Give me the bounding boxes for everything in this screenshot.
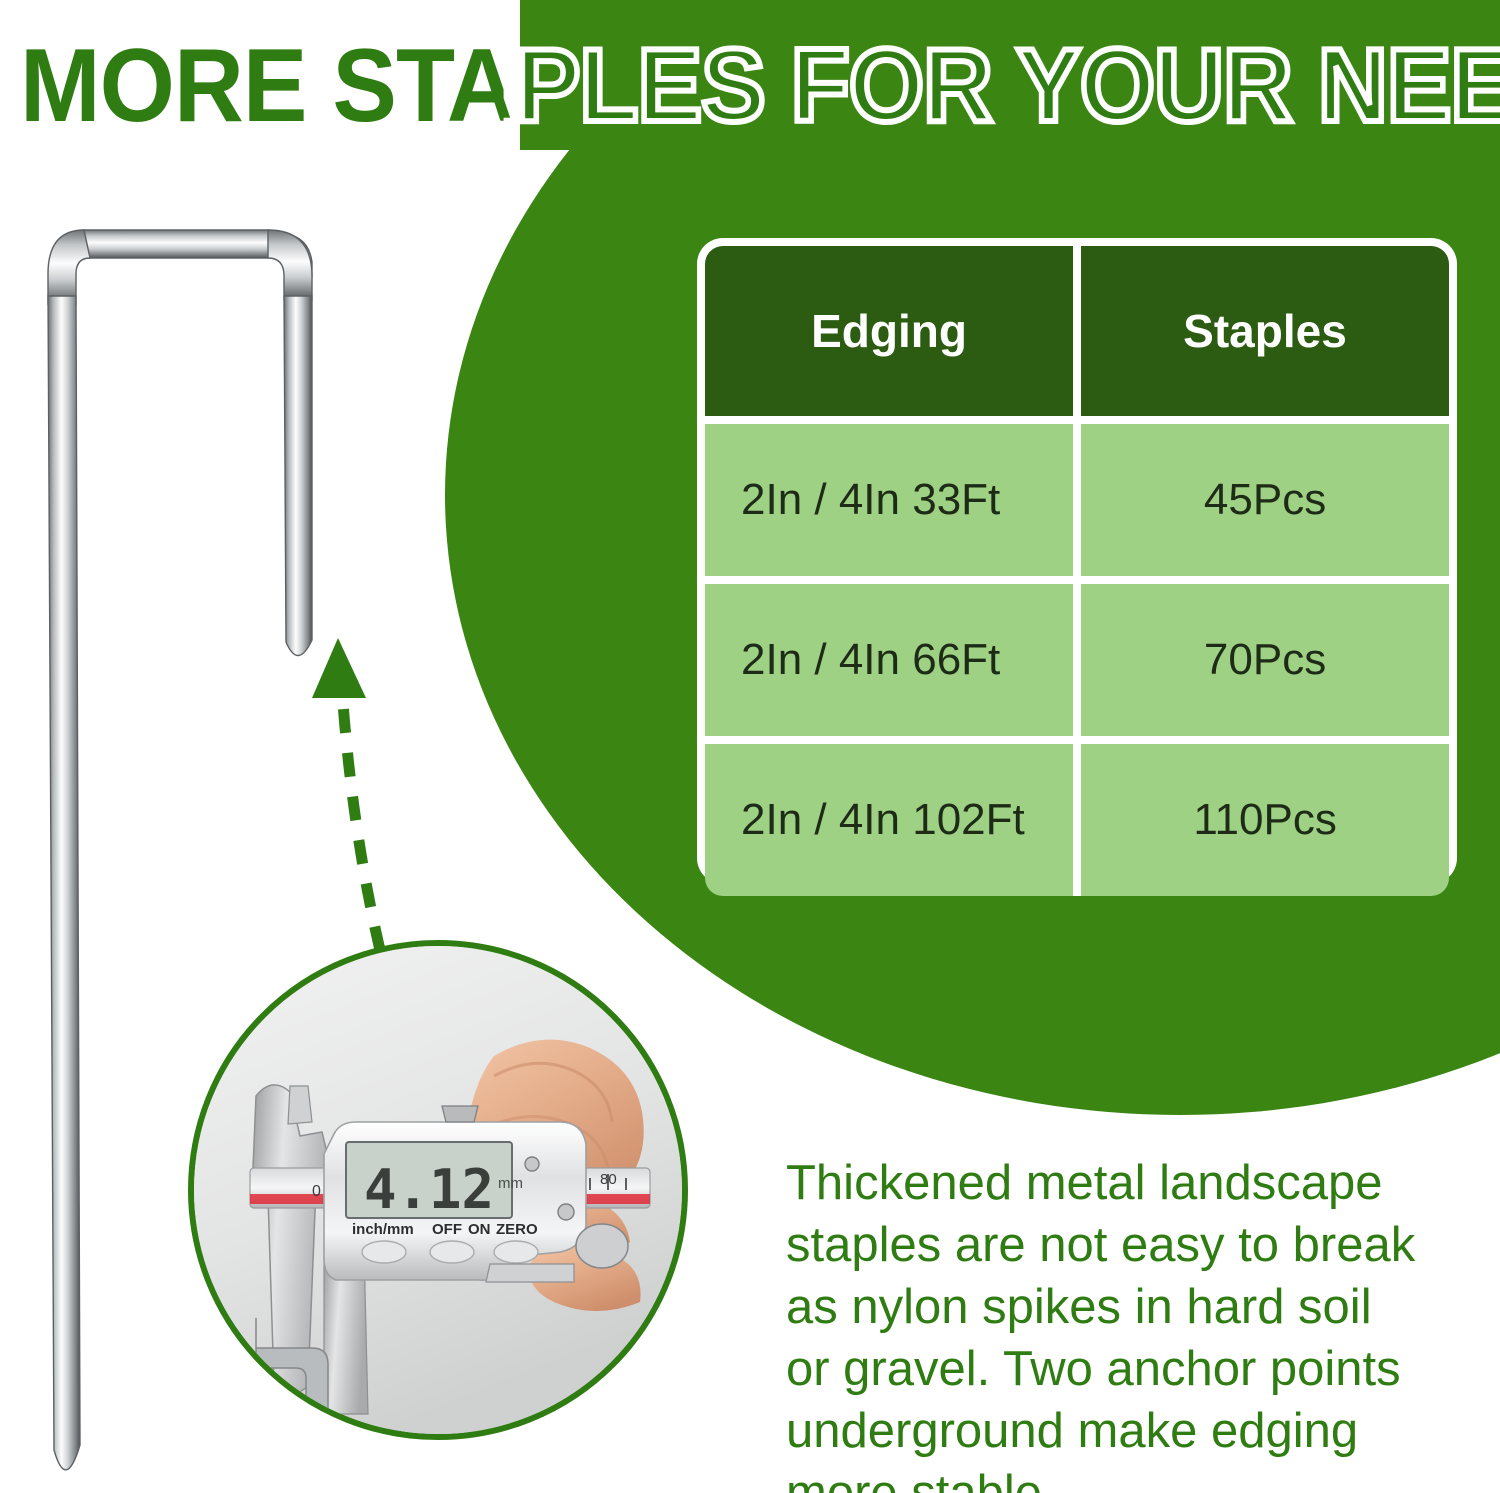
table-row-divider bbox=[705, 736, 1449, 744]
caliper-button-1 bbox=[362, 1241, 406, 1263]
button-label-zero: ZERO bbox=[496, 1221, 538, 1238]
column-header-edging: Edging bbox=[705, 246, 1073, 416]
table-column-divider bbox=[1073, 424, 1081, 576]
spec-table: Edging Staples 2In / 4In 33Ft 45Pcs 2In … bbox=[697, 238, 1457, 884]
scale-mark-80: 80 bbox=[600, 1171, 617, 1188]
button-label-on: ON bbox=[468, 1221, 491, 1238]
button-label-off: OFF bbox=[432, 1221, 462, 1238]
cell-staples: 45Pcs bbox=[1081, 424, 1449, 576]
cell-edging: 2In / 4In 33Ft bbox=[705, 424, 1073, 576]
caliper-display-value: 4.12 bbox=[364, 1158, 494, 1221]
table-row-divider bbox=[705, 576, 1449, 584]
table-row: 2In / 4In 33Ft 45Pcs bbox=[705, 424, 1449, 576]
button-label-inch-mm: inch/mm bbox=[352, 1221, 414, 1238]
cell-edging: 2In / 4In 66Ft bbox=[705, 584, 1073, 736]
table-column-divider bbox=[1073, 246, 1081, 416]
caliper-button-3 bbox=[494, 1241, 538, 1263]
caliper-photo: 70 80 0 4.12 mm inch/mm OFF ON ZERO bbox=[194, 946, 682, 1434]
table-header-row: Edging Staples bbox=[705, 246, 1449, 416]
pointer-arrow-icon bbox=[280, 620, 460, 970]
table-row: 2In / 4In 102Ft 110Pcs bbox=[705, 744, 1449, 896]
product-description: Thickened metal landscape staples are no… bbox=[786, 1152, 1426, 1493]
cell-staples: 70Pcs bbox=[1081, 584, 1449, 736]
column-header-staples: Staples bbox=[1081, 246, 1449, 416]
cell-staples: 110Pcs bbox=[1081, 744, 1449, 896]
table-row-divider bbox=[705, 416, 1449, 424]
table-row: 2In / 4In 66Ft 70Pcs bbox=[705, 584, 1449, 736]
scale-mark-0: 0 bbox=[312, 1183, 321, 1200]
caliper-measurement-callout: 70 80 0 4.12 mm inch/mm OFF ON ZERO bbox=[188, 940, 688, 1440]
caliper-button-2 bbox=[430, 1241, 474, 1263]
table-column-divider bbox=[1073, 744, 1081, 896]
cell-edging: 2In / 4In 102Ft bbox=[705, 744, 1073, 896]
caliper-display-unit: mm bbox=[498, 1175, 523, 1192]
table-column-divider bbox=[1073, 584, 1081, 736]
infographic-canvas: MORE STAPLES FOR YOUR NEEDS MORE STAPLES… bbox=[0, 0, 1500, 1493]
